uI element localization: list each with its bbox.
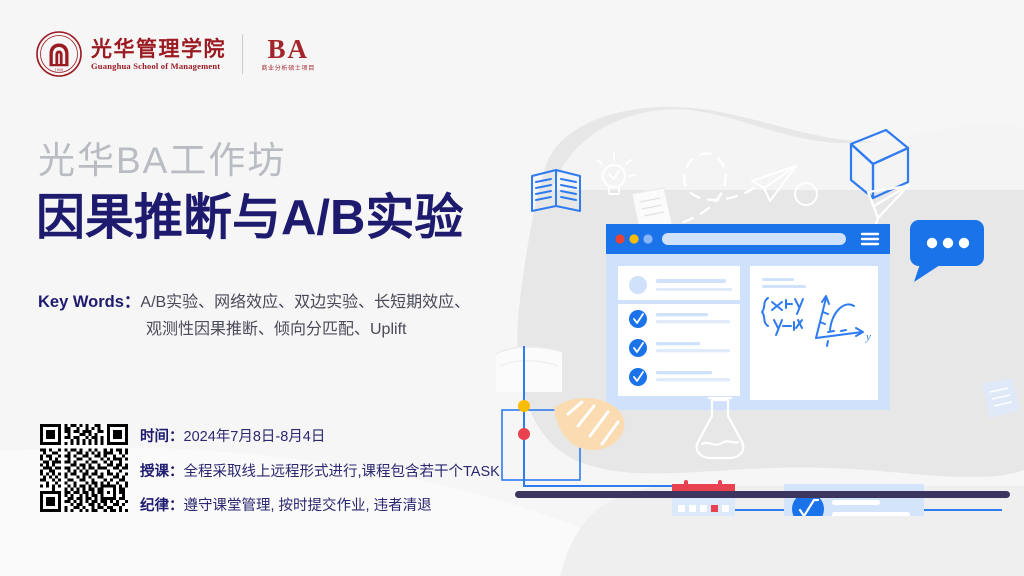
lightbulb-icon xyxy=(597,153,635,194)
browser-dot-red[interactable] xyxy=(615,234,624,243)
keywords-block: Key Words：A/B实验、网络效应、双边实验、长短期效应、 观测性因果推断… xyxy=(38,288,518,343)
keywords-line-1: A/B实验、网络效应、双边实验、长短期效应、 xyxy=(140,294,470,311)
paper-stack-icon xyxy=(496,347,562,392)
logo-divider xyxy=(242,34,243,74)
info-key-teaching: 授课： xyxy=(140,464,184,480)
axis-label-y: y xyxy=(865,331,871,343)
poster-canvas: 1898 光华管理学院 Guanghua School of Managemen… xyxy=(0,0,1024,576)
timeline-dot-red xyxy=(518,428,530,440)
peking-university-seal-icon: 1898 xyxy=(36,31,82,77)
school-name-block: 光华管理学院 Guanghua School of Management xyxy=(91,38,226,71)
note-sheet-right-icon xyxy=(982,378,1020,418)
paper-plane-icon xyxy=(752,166,796,201)
base-bar xyxy=(515,491,1010,498)
browser-window[interactable]: y xyxy=(606,224,890,410)
result-card[interactable] xyxy=(784,484,924,516)
qr-code-icon xyxy=(40,424,128,512)
info-value-teaching: 全程采取线上远程形式进行,课程包含若干个TASK xyxy=(184,464,500,480)
school-name-cn: 光华管理学院 xyxy=(91,38,226,60)
avatar xyxy=(629,276,647,294)
illustration-svg: y xyxy=(496,96,1024,516)
open-book-icon xyxy=(532,170,580,211)
info-key-discipline: 纪律： xyxy=(140,498,184,514)
circle-outline-icon xyxy=(795,183,817,205)
calendar-icon xyxy=(672,480,735,516)
svg-text:1898: 1898 xyxy=(55,68,63,72)
ba-program-logo: BA 商业分析硕士项目 xyxy=(259,36,317,73)
ba-abbr: BA xyxy=(267,36,309,63)
hero-illustration: y xyxy=(496,96,1024,516)
checklist-panel xyxy=(618,266,740,396)
whiteboard-panel: y xyxy=(750,266,878,400)
keywords-line-2: 观测性因果推断、倾向分匹配、Uplift xyxy=(38,316,518,343)
hero-kicker: 光华BA工作坊 xyxy=(38,142,286,179)
info-key-time: 时间： xyxy=(140,429,184,445)
browser-dot-blue[interactable] xyxy=(643,234,652,243)
info-value-time: 2024年7月8日-8月4日 xyxy=(184,429,326,445)
browser-dot-yellow[interactable] xyxy=(629,234,638,243)
wechat-qr-code[interactable] xyxy=(40,424,128,512)
info-value-discipline: 遵守课堂管理, 按时提交作业, 违者清退 xyxy=(184,498,432,514)
page-title: 因果推断与A/B实验 xyxy=(36,192,463,245)
brand-logo-row: 1898 光华管理学院 Guanghua School of Managemen… xyxy=(36,28,317,80)
ba-program-cn: 商业分析硕士项目 xyxy=(261,66,315,72)
timeline-dot-yellow xyxy=(518,400,530,412)
school-name-en: Guanghua School of Management xyxy=(91,62,226,71)
keywords-label: Key Words： xyxy=(38,293,140,311)
chat-bubble-icon xyxy=(910,220,984,282)
browser-address-bar[interactable] xyxy=(662,233,846,245)
